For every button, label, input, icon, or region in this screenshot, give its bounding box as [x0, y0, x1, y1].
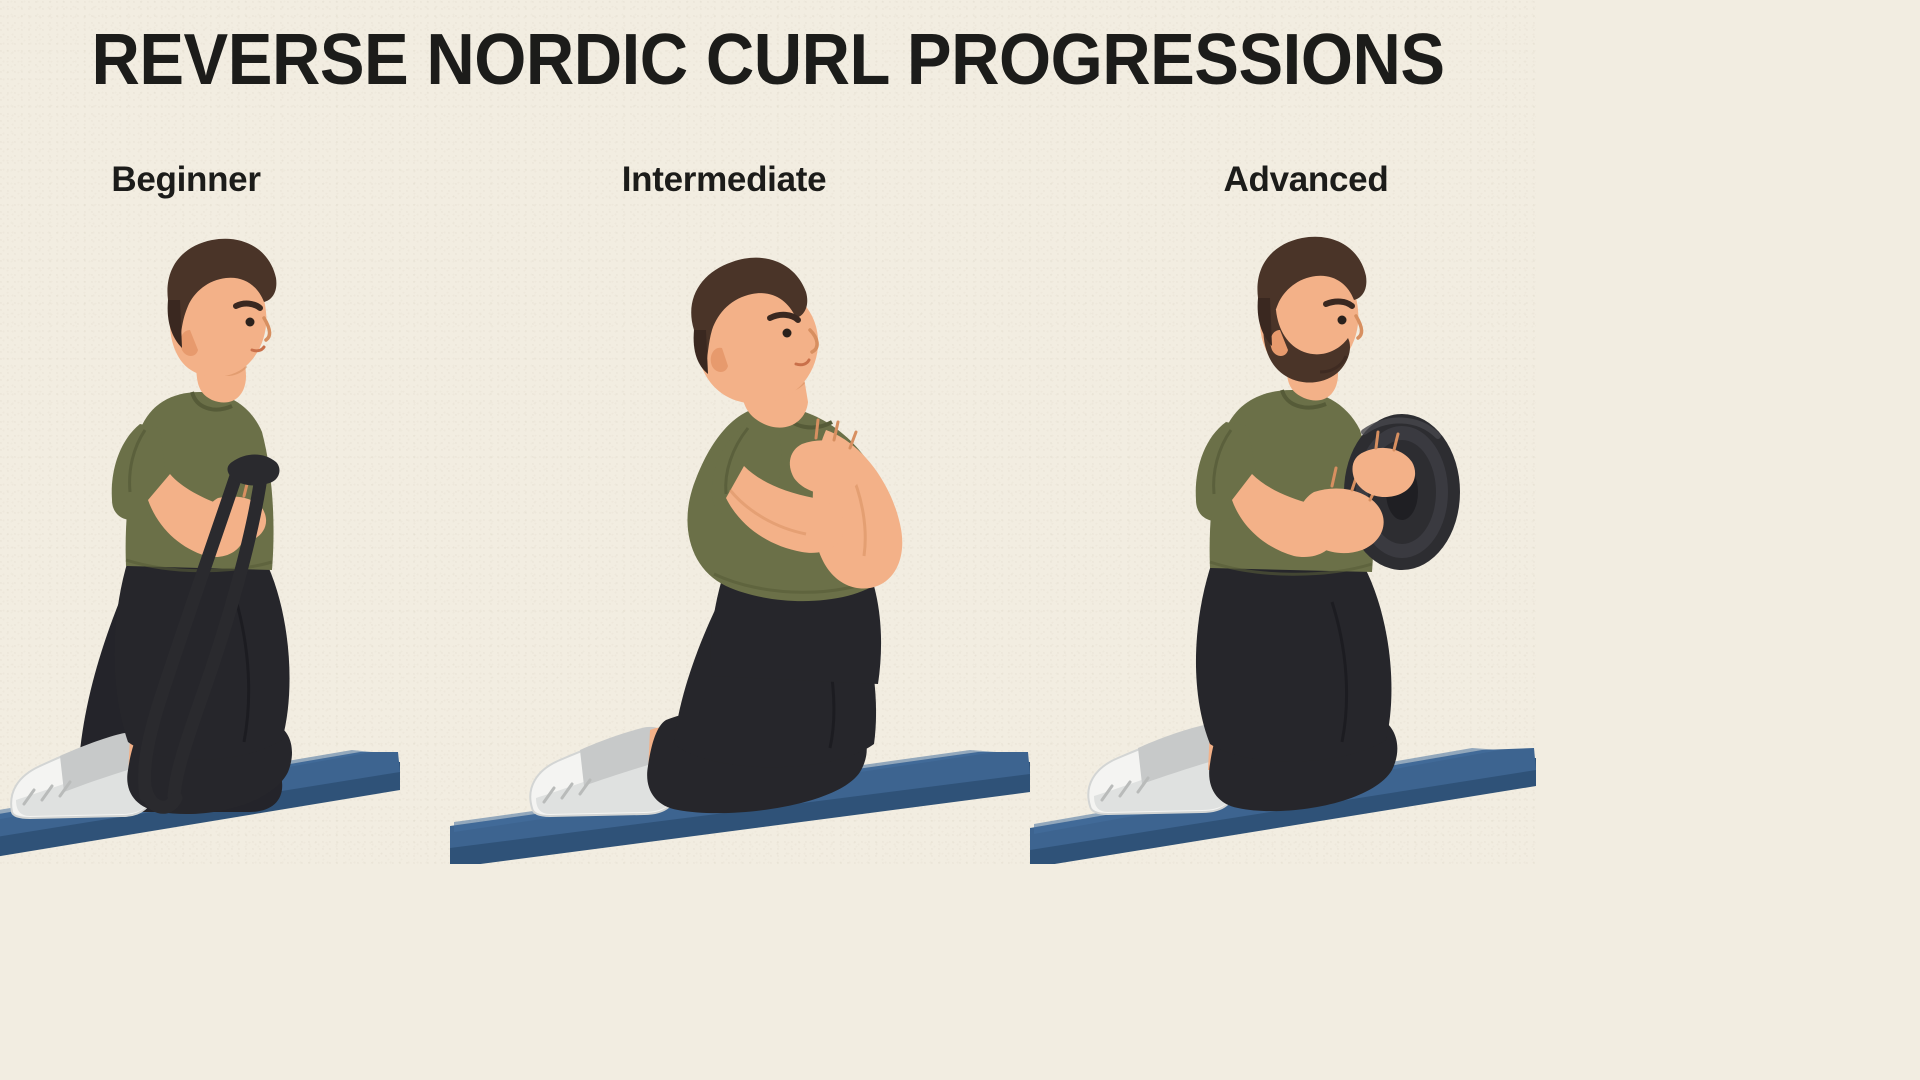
- panel-beginner: [0, 0, 430, 864]
- illustration-intermediate: [430, 0, 1030, 864]
- head: [691, 258, 818, 428]
- infographic-canvas: REVERSE NORDIC CURL PROGRESSIONS Beginne…: [0, 0, 1536, 864]
- head: [1257, 237, 1366, 401]
- panel-intermediate: [430, 0, 1030, 864]
- head: [167, 239, 276, 403]
- illustration-advanced: [1020, 0, 1536, 864]
- panel-advanced: [1020, 0, 1536, 864]
- illustration-beginner: [0, 0, 430, 864]
